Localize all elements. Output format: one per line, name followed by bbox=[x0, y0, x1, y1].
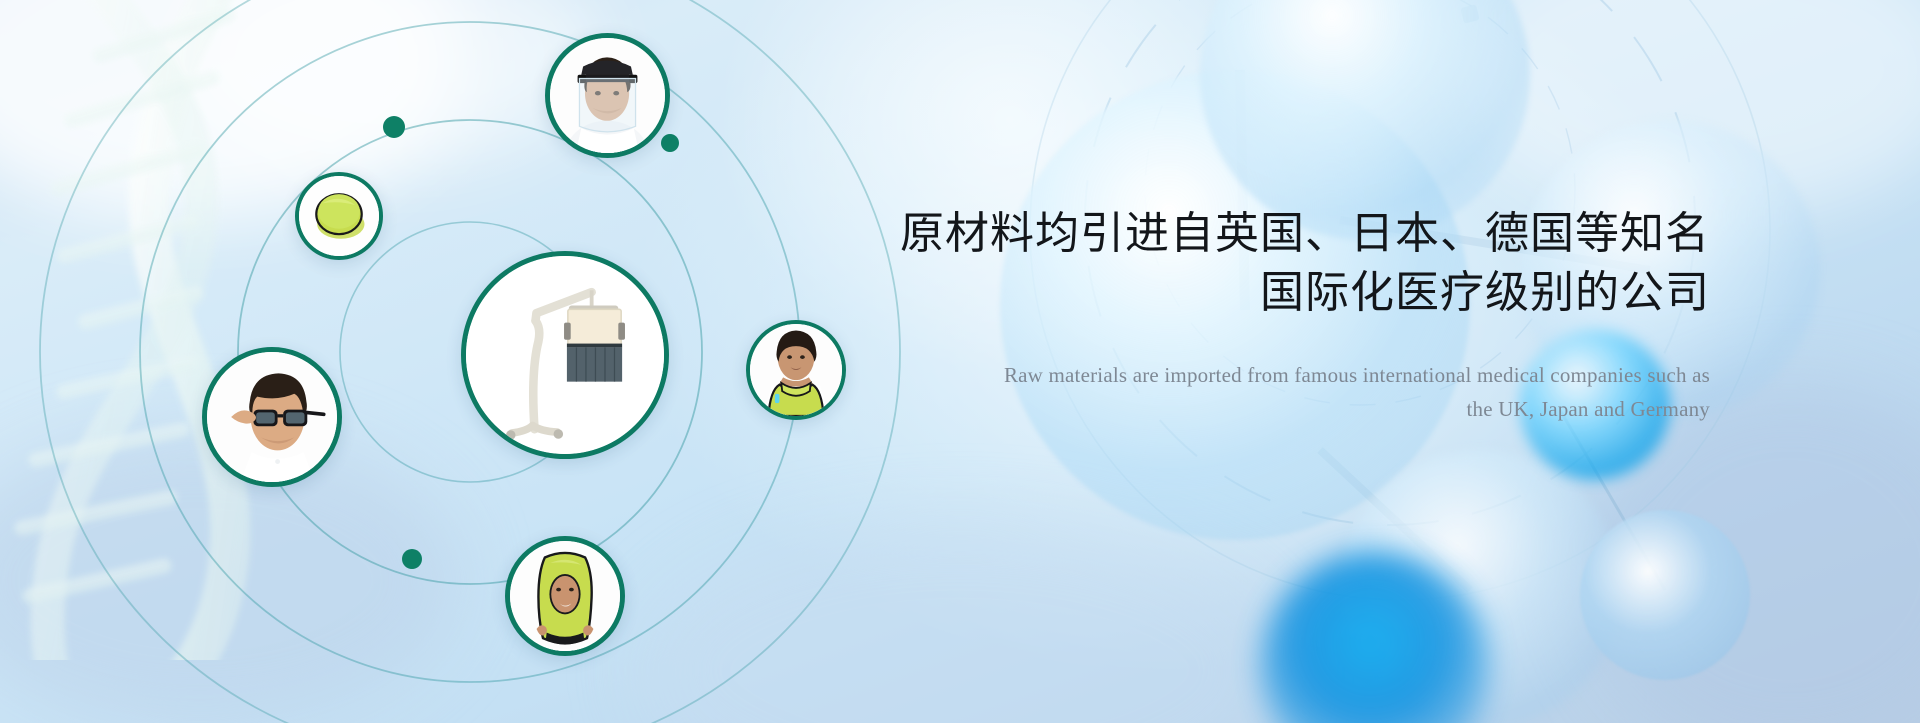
orbit-dot bbox=[383, 116, 405, 138]
headline-line-1: 原材料均引进自英国、日本、德国等知名 bbox=[900, 209, 1710, 258]
subtitle-line-1: Raw materials are imported from famous i… bbox=[880, 358, 1710, 392]
banner-copy: 原材料均引进自英国、日本、德国等知名 国际化医疗级别的公司 Raw materi… bbox=[880, 205, 1710, 426]
cloud-wash bbox=[180, 0, 600, 170]
bubble-protective-glasses[interactable] bbox=[202, 347, 342, 487]
bubble-thyroid-collar[interactable] bbox=[746, 320, 846, 420]
molecule-sphere bbox=[1260, 550, 1490, 723]
dna-helix-icon bbox=[0, 0, 380, 660]
page-title: 原材料均引进自英国、日本、德国等知名 国际化医疗级别的公司 bbox=[880, 205, 1710, 322]
cloud-wash bbox=[1450, 0, 1920, 220]
mobile-shield-icon bbox=[466, 256, 664, 454]
bubble-face-shield[interactable] bbox=[545, 33, 670, 158]
molecule-sphere bbox=[1340, 450, 1620, 723]
subtitle-line-2: the UK, Japan and Germany bbox=[880, 392, 1710, 426]
banner-subtitle: Raw materials are imported from famous i… bbox=[880, 358, 1710, 426]
hero-banner: 原材料均引进自英国、日本、德国等知名 国际化医疗级别的公司 Raw materi… bbox=[0, 0, 1920, 723]
molecule-sphere bbox=[1580, 510, 1750, 680]
molecule-sphere bbox=[1200, 0, 1530, 240]
orbit-dot bbox=[402, 549, 422, 569]
thyroid-collar-icon bbox=[750, 324, 842, 416]
headline-line-2: 国际化医疗级别的公司 bbox=[880, 264, 1710, 323]
protective-glasses-icon bbox=[207, 352, 337, 482]
bubble-lead-cap[interactable] bbox=[295, 172, 383, 260]
cloud-wash bbox=[640, 520, 1280, 723]
cloud-wash bbox=[0, 0, 470, 220]
lead-cap-icon bbox=[299, 176, 379, 256]
cloud-wash bbox=[1580, 380, 1920, 723]
face-shield-icon bbox=[550, 38, 665, 153]
protective-hood-icon bbox=[510, 541, 620, 651]
bubble-mobile-shield[interactable] bbox=[461, 251, 669, 459]
bubble-protective-hood[interactable] bbox=[505, 536, 625, 656]
